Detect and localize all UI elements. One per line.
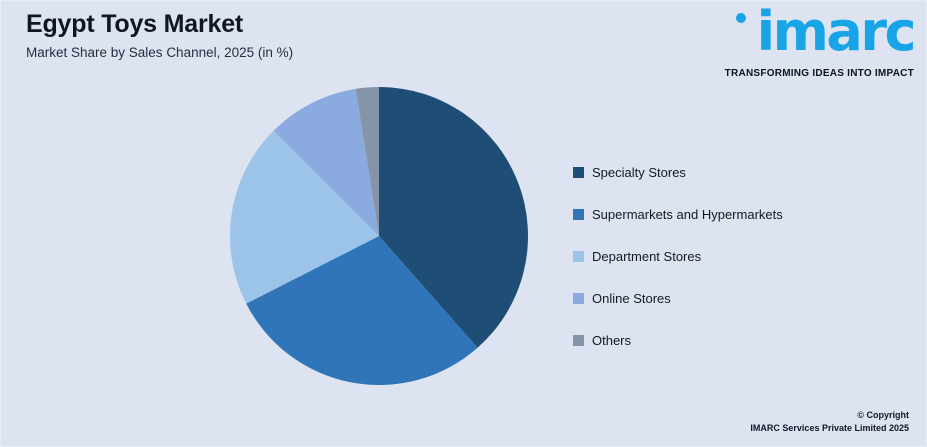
legend-item[interactable]: Supermarkets and Hypermarkets [573, 193, 893, 235]
legend-swatch-icon [573, 335, 584, 346]
logo-mark: imarc [718, 11, 914, 65]
legend-swatch-icon [573, 167, 584, 178]
pie-chart-svg [229, 86, 529, 386]
copyright-line-2: IMARC Services Private Limited 2025 [750, 422, 909, 435]
infographic-canvas: Egypt Toys Market Market Share by Sales … [0, 0, 927, 447]
page-title: Egypt Toys Market [26, 9, 526, 39]
legend-item-label: Supermarkets and Hypermarkets [592, 208, 783, 221]
logo-dot-icon [736, 13, 746, 23]
logo-wordmark: imarc [718, 5, 914, 59]
header: Egypt Toys Market Market Share by Sales … [26, 9, 526, 61]
legend-item[interactable]: Others [573, 319, 893, 361]
legend-swatch-icon [573, 251, 584, 262]
legend-swatch-icon [573, 209, 584, 220]
legend-item-label: Department Stores [592, 250, 701, 263]
legend-item-label: Online Stores [592, 292, 671, 305]
page-subtitle: Market Share by Sales Channel, 2025 (in … [26, 45, 526, 61]
legend-item-label: Specialty Stores [592, 166, 686, 179]
legend-item[interactable]: Department Stores [573, 235, 893, 277]
logo-tagline: TRANSFORMING IDEAS INTO IMPACT [718, 68, 914, 79]
copyright-line-1: © Copyright [750, 409, 909, 422]
legend-item[interactable]: Specialty Stores [573, 151, 893, 193]
legend-swatch-icon [573, 293, 584, 304]
copyright-notice: © Copyright IMARC Services Private Limit… [750, 409, 909, 435]
pie-slice-group [230, 87, 528, 385]
legend-item[interactable]: Online Stores [573, 277, 893, 319]
legend-item-label: Others [592, 334, 631, 347]
pie-chart [229, 86, 529, 386]
chart-legend: Specialty StoresSupermarkets and Hyperma… [573, 151, 893, 361]
imarc-logo: imarc TRANSFORMING IDEAS INTO IMPACT [718, 11, 914, 85]
